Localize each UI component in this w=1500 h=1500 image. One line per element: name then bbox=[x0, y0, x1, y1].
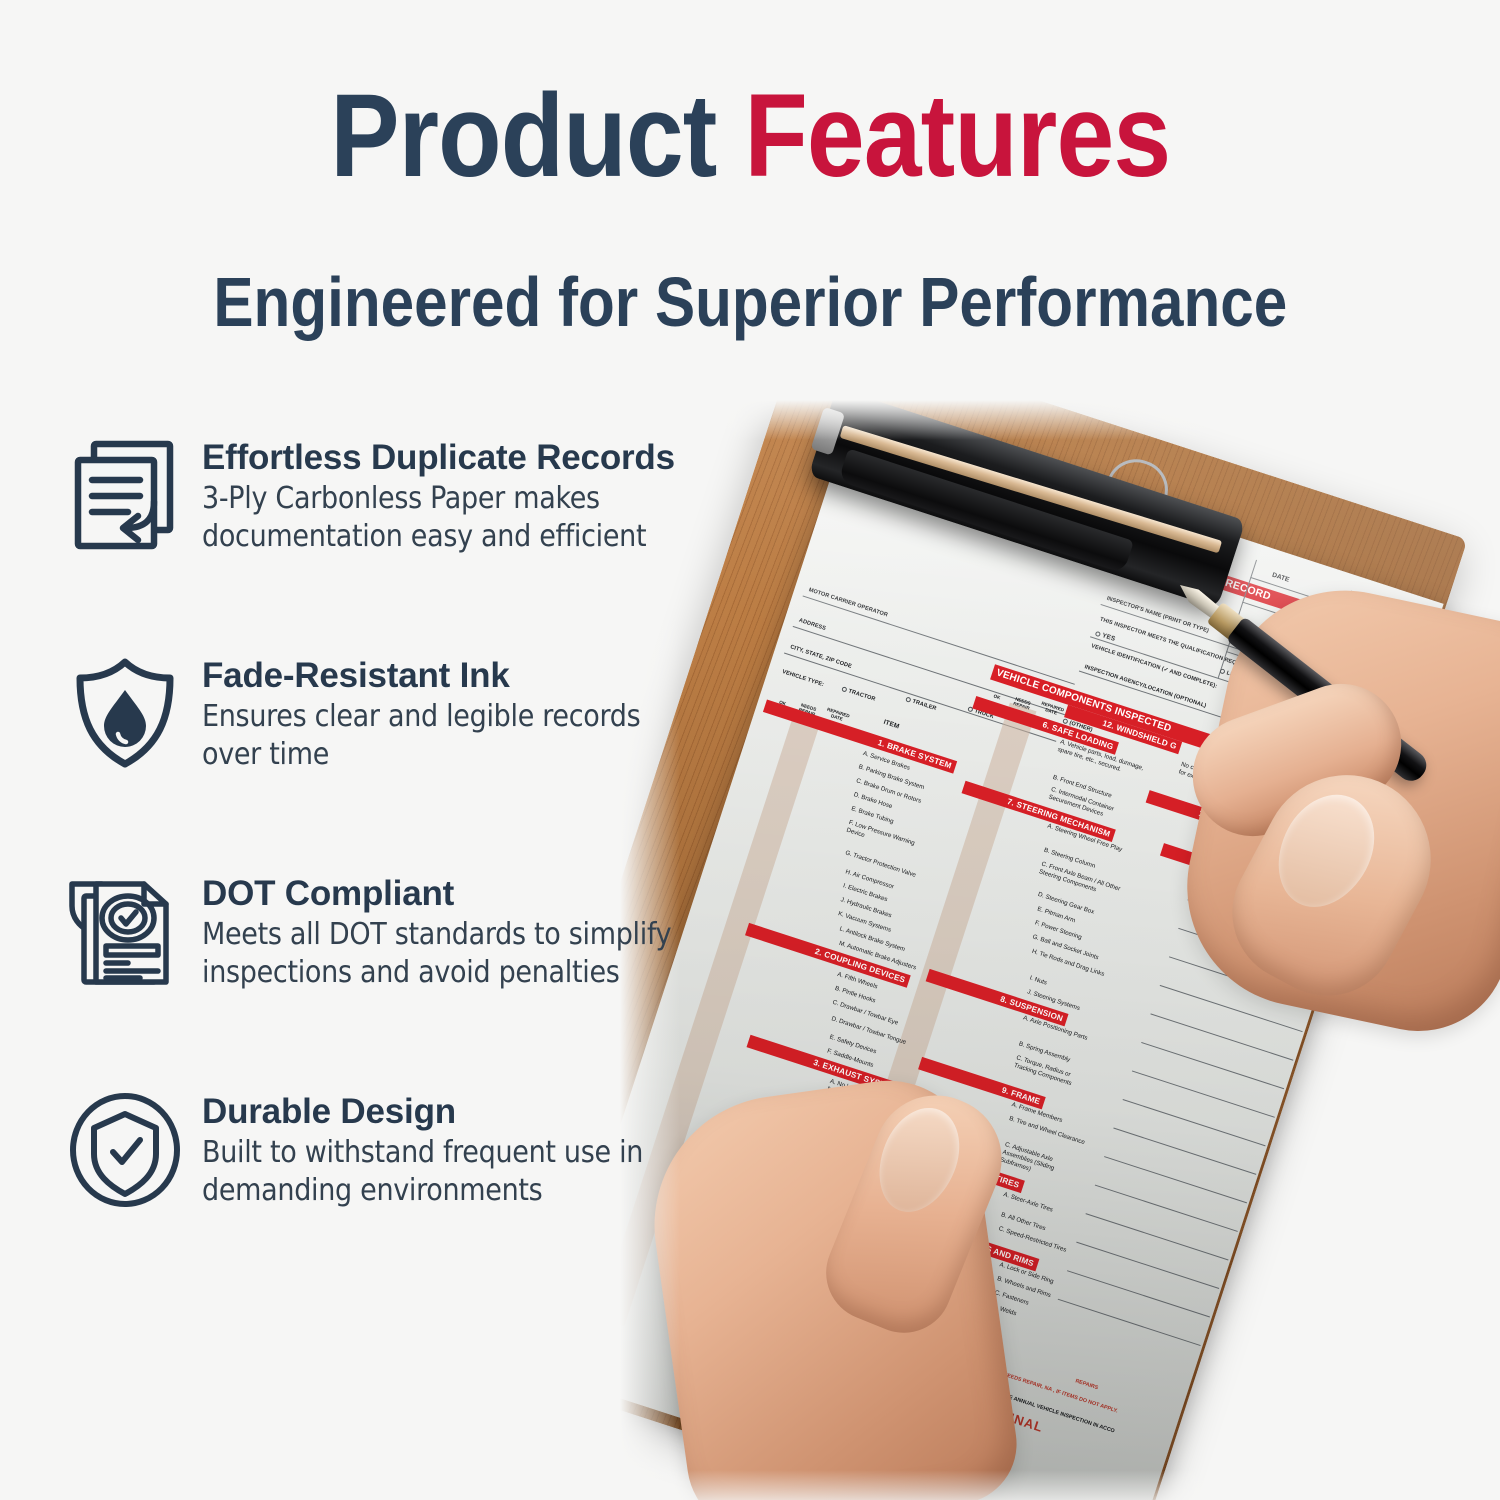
feature-title: Durable Design bbox=[202, 1092, 643, 1131]
col-head-repaired-date-right: REPAIRED DATE bbox=[1039, 701, 1065, 718]
form-item: A. Steer-Axle Tires bbox=[1002, 1191, 1054, 1215]
form-item: I. Nuts bbox=[1028, 974, 1047, 987]
feature-title: Effortless Duplicate Records bbox=[202, 438, 675, 477]
repairs-label: REPAIRS bbox=[1074, 1378, 1098, 1391]
motor-carrier-operator-label: MOTOR CARRIER OPERATOR bbox=[808, 587, 889, 618]
feature-description: 3-Ply Carbonless Paper makes documentati… bbox=[202, 480, 675, 556]
date-label: DATE bbox=[1271, 572, 1290, 584]
page-subtitle: Engineered for Superior Performance bbox=[0, 262, 1500, 342]
feature-item-duplicate-records: Effortless Duplicate Records 3-Ply Carbo… bbox=[62, 432, 762, 650]
vehicle-type-tractor[interactable]: TRACTOR bbox=[841, 686, 876, 703]
item-header-left: ITEM bbox=[883, 719, 901, 731]
form-item: C. Torque, Radius or Tracking Components bbox=[1013, 1054, 1094, 1094]
shield-droplet-icon bbox=[62, 650, 188, 776]
feature-description: Built to withstand frequent use in deman… bbox=[202, 1134, 643, 1210]
page-title: Product Features bbox=[0, 72, 1500, 202]
feature-description: Meets all DOT standards to simplify insp… bbox=[202, 916, 671, 992]
feature-item-fade-resistant-ink: Fade-Resistant Ink Ensures clear and leg… bbox=[62, 650, 762, 868]
title-part-features: Features bbox=[744, 70, 1170, 202]
shield-check-circle-icon bbox=[62, 1086, 188, 1212]
vehicle-type-trailer[interactable]: TRAILER bbox=[905, 696, 937, 712]
vehicle-type-label: VEHICLE TYPE: bbox=[781, 669, 824, 688]
product-features-page: Product Features Engineered for Superior… bbox=[0, 0, 1500, 1500]
feature-description: Ensures clear and legible records over t… bbox=[202, 698, 640, 774]
document-check-shield-icon bbox=[62, 868, 188, 994]
feature-title: DOT Compliant bbox=[202, 874, 671, 913]
feature-title: Fade-Resistant Ink bbox=[202, 656, 640, 695]
feature-item-durable-design: Durable Design Built to withstand freque… bbox=[62, 1086, 762, 1304]
title-part-product: Product bbox=[330, 70, 744, 202]
duplicate-documents-icon bbox=[62, 432, 188, 558]
feature-list: Effortless Duplicate Records 3-Ply Carbo… bbox=[62, 432, 762, 1304]
feature-item-dot-compliant: DOT Compliant Meets all DOT standards to… bbox=[62, 868, 762, 1086]
